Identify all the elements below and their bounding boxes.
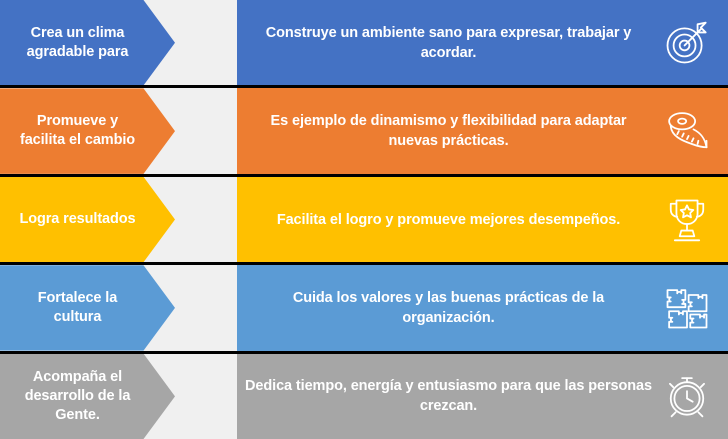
chevron-gap — [175, 177, 237, 262]
chevron-band-1[interactable]: Crea un clima agradable para — [0, 0, 175, 85]
chevron-gap — [175, 265, 237, 350]
description-panel-5[interactable]: Dedica tiempo, energía y entusiasmo para… — [237, 354, 728, 439]
chevron-infographic: Crea un clima agradable para Construye u… — [0, 0, 728, 439]
chevron-band-5[interactable]: Acompaña el desarrollo de la Gente. — [0, 354, 175, 439]
chevron-gap — [175, 354, 237, 439]
infographic-row: Promueve y facilita el cambio Es ejemplo… — [0, 85, 728, 173]
description-text: Dedica tiempo, energía y entusiasmo para… — [245, 376, 658, 416]
target-dart-icon — [658, 14, 716, 72]
chevron-band-4[interactable]: Fortalece la cultura — [0, 265, 175, 350]
chevron-label: Fortalece la cultura — [38, 289, 117, 327]
chevron-label: Crea un clima agradable para — [27, 24, 129, 62]
chevron-band-3[interactable]: Logra resultados — [0, 177, 175, 262]
description-panel-2[interactable]: Es ejemplo de dinamismo y flexibilidad p… — [237, 88, 728, 173]
description-panel-4[interactable]: Cuida los valores y las buenas prácticas… — [237, 265, 728, 350]
description-panel-1[interactable]: Construye un ambiente sano para expresar… — [237, 0, 728, 85]
description-text: Es ejemplo de dinamismo y flexibilidad p… — [245, 111, 658, 151]
puzzle-pieces-icon — [658, 279, 716, 337]
trophy-icon — [658, 191, 716, 249]
chevron-label: Promueve y facilita el cambio — [20, 112, 135, 150]
infographic-row: Crea un clima agradable para Construye u… — [0, 0, 728, 85]
description-panel-3[interactable]: Facilita el logro y promueve mejores des… — [237, 177, 728, 262]
description-text: Cuida los valores y las buenas prácticas… — [245, 288, 658, 328]
alarm-clock-icon — [658, 367, 716, 425]
measuring-tape-icon — [658, 102, 716, 160]
chevron-label: Logra resultados — [19, 210, 135, 229]
infographic-row: Fortalece la cultura Cuida los valores y… — [0, 262, 728, 350]
infographic-row: Acompaña el desarrollo de la Gente. Dedi… — [0, 351, 728, 439]
chevron-gap — [175, 0, 237, 85]
chevron-label: Acompaña el desarrollo de la Gente. — [25, 368, 131, 425]
chevron-band-2[interactable]: Promueve y facilita el cambio — [0, 88, 175, 173]
description-text: Facilita el logro y promueve mejores des… — [245, 210, 658, 230]
infographic-row: Logra resultados Facilita el logro y pro… — [0, 174, 728, 262]
chevron-gap — [175, 88, 237, 173]
description-text: Construye un ambiente sano para expresar… — [245, 23, 658, 63]
